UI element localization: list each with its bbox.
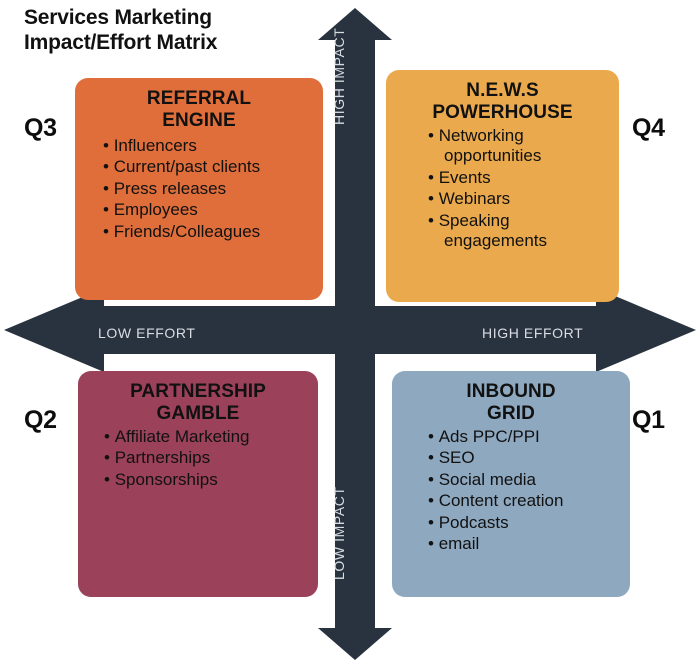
list-item: Ads PPC/PPI: [428, 427, 622, 447]
quadrant-heading-q4-line2: POWERHOUSE: [394, 102, 611, 124]
quadrant-heading-q3: REFERRAL ENGINE: [83, 88, 315, 132]
quadrant-heading-q3-line2: ENGINE: [83, 110, 315, 132]
impact-effort-matrix: Services Marketing Impact/Effort Matrix …: [0, 0, 700, 668]
list-item: Press releases: [103, 179, 315, 199]
quadrant-heading-q4-line1: N.E.W.S: [394, 80, 611, 102]
list-item: Content creation: [428, 491, 622, 511]
quadrant-list-q3: Influencers Current/past clients Press r…: [83, 136, 315, 242]
quadrant-panel-q3[interactable]: REFERRAL ENGINE Influencers Current/past…: [75, 78, 323, 300]
quadrant-heading-q2: PARTNERSHIP GAMBLE: [86, 381, 310, 425]
quadrant-list-q1: Ads PPC/PPI SEO Social media Content cre…: [400, 427, 622, 554]
axis-label-low-impact: LOW IMPACT: [331, 486, 347, 580]
list-item: Webinars: [428, 189, 611, 209]
list-item: SEO: [428, 448, 622, 468]
axis-label-high-effort: HIGH EFFORT: [482, 325, 583, 341]
quadrant-marker-q4: Q4: [632, 114, 665, 143]
list-item: email: [428, 534, 622, 554]
quadrant-marker-q1: Q1: [632, 406, 665, 435]
list-item: Speaking engagements: [428, 211, 611, 252]
list-item: Podcasts: [428, 513, 622, 533]
quadrant-panel-q1[interactable]: INBOUND GRID Ads PPC/PPI SEO Social medi…: [392, 371, 630, 597]
quadrant-heading-q1: INBOUND GRID: [400, 381, 622, 425]
quadrant-panel-q2[interactable]: PARTNERSHIP GAMBLE Affiliate Marketing P…: [78, 371, 318, 597]
list-item: Employees: [103, 200, 315, 220]
quadrant-heading-q4: N.E.W.S POWERHOUSE: [394, 80, 611, 124]
quadrant-panel-q4[interactable]: N.E.W.S POWERHOUSE Networking opportunit…: [386, 70, 619, 302]
quadrant-list-q4: Networking opportunities Events Webinars…: [394, 126, 611, 251]
list-item: Current/past clients: [103, 157, 315, 177]
quadrant-heading-q2-line2: GAMBLE: [86, 403, 310, 425]
list-item: Partnerships: [104, 448, 310, 468]
quadrant-list-q2: Affiliate Marketing Partnerships Sponsor…: [86, 427, 310, 490]
axis-label-high-impact: HIGH IMPACT: [331, 28, 347, 125]
list-item: Sponsorships: [104, 470, 310, 490]
quadrant-heading-q1-line2: GRID: [400, 403, 622, 425]
quadrant-heading-q1-line1: INBOUND: [400, 381, 622, 403]
list-item: Affiliate Marketing: [104, 427, 310, 447]
list-item: Social media: [428, 470, 622, 490]
list-item: Friends/Colleagues: [103, 222, 315, 242]
axis-label-low-effort: LOW EFFORT: [98, 325, 196, 341]
list-item: Influencers: [103, 136, 315, 156]
list-item: Networking opportunities: [428, 126, 611, 167]
quadrant-heading-q2-line1: PARTNERSHIP: [86, 381, 310, 403]
quadrant-marker-q3: Q3: [24, 114, 57, 143]
list-item: Events: [428, 168, 611, 188]
quadrant-heading-q3-line1: REFERRAL: [83, 88, 315, 110]
quadrant-marker-q2: Q2: [24, 406, 57, 435]
